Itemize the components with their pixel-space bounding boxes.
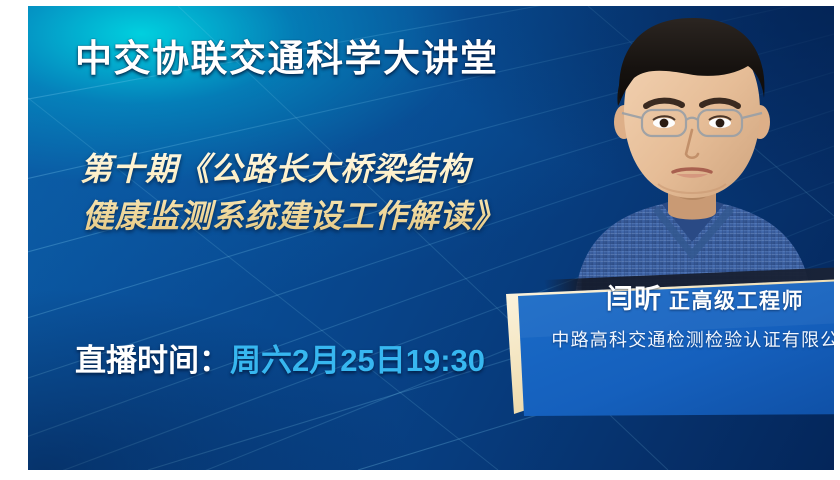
speaker-portrait bbox=[558, 6, 826, 306]
speaker-name-row: 闫昕正高级工程师 bbox=[550, 286, 834, 313]
poster-subtitle: 第十期《公路长大桥梁结构 健康监测系统建设工作解读》 bbox=[80, 146, 505, 240]
page-title: 中交协联交通科学大讲堂 bbox=[75, 28, 499, 82]
speaker-organization: 中路高科交通检测检验认证有限公司 bbox=[550, 326, 834, 352]
subtitle-line-1: 第十期《公路长大桥梁结构 bbox=[80, 146, 505, 193]
poster-stage: 中交协联交通科学大讲堂 第十期《公路长大桥梁结构 健康监测系统建设工作解读》 bbox=[28, 6, 834, 470]
speaker-info-panel: 闫昕正高级工程师 中路高科交通检测检验认证有限公司 bbox=[504, 264, 834, 424]
speaker-title: 正高级工程师 bbox=[669, 290, 804, 313]
live-time-row: 直播时间：周六2月25日19:30 bbox=[75, 335, 485, 380]
speaker-name: 闫昕 bbox=[606, 284, 662, 314]
livestream-poster: 中交协联交通科学大讲堂 第十期《公路长大桥梁结构 健康监测系统建设工作解读》 bbox=[0, 0, 840, 480]
live-time-value: 周六2月25日19:30 bbox=[230, 343, 485, 378]
live-time-label: 直播时间： bbox=[75, 343, 230, 378]
speaker-panel-text: 闫昕正高级工程师 中路高科交通检测检验认证有限公司 bbox=[550, 286, 834, 352]
subtitle-line-2: 健康监测系统建设工作解读》 bbox=[80, 193, 505, 240]
